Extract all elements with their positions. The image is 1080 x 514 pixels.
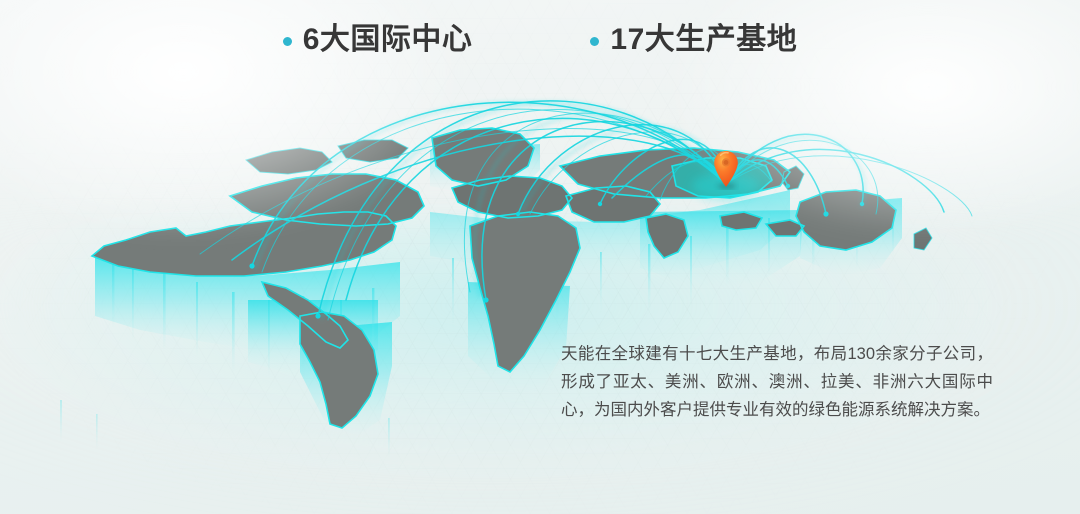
description-block: 天能在全球建有十七大生产基地，布局130余家分子公司，形成了亚太、美洲、欧洲、澳… [561,340,993,424]
world-map-graphic [0,0,1080,514]
heading-row: 6大国际中心 17大生产基地 [0,22,1080,58]
world-map-infographic: 6大国际中心 17大生产基地 天能在全球建有十七大生产基地，布局130余家分子公… [0,0,1080,514]
description-text: 天能在全球建有十七大生产基地，布局130余家分子公司，形成了亚太、美洲、欧洲、澳… [561,340,993,424]
bullet-dot-icon [590,37,599,46]
hub-glow [692,172,760,200]
heading-item-international-centers: 6大国际中心 [283,22,473,58]
heading-item-production-bases: 17大生产基地 [590,22,797,58]
heading-label-international-centers: 6大国际中心 [303,22,473,58]
heading-label-production-bases: 17大生产基地 [610,22,797,58]
bullet-dot-icon [283,37,292,46]
